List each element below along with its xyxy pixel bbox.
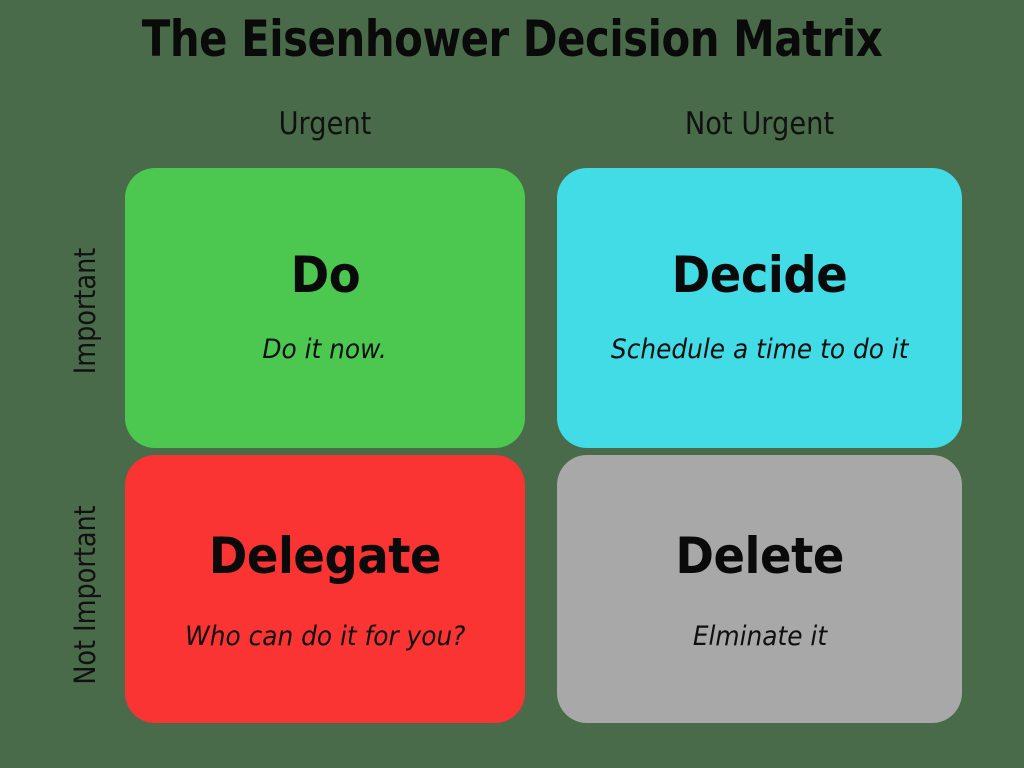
quadrant-decide-title: Decide bbox=[672, 250, 848, 300]
quadrant-delete-subtitle: Elminate it bbox=[692, 621, 826, 653]
quadrant-do-subtitle: Do it now. bbox=[263, 334, 387, 366]
quadrant-do[interactable]: Do Do it now. bbox=[125, 168, 525, 448]
quadrant-delegate-subtitle: Who can do it for you? bbox=[185, 621, 465, 653]
quadrant-do-title: Do bbox=[290, 250, 360, 300]
quadrant-delegate-title: Delegate bbox=[209, 531, 441, 581]
row-label-not-important: Not Important bbox=[68, 463, 102, 727]
column-header-not-urgent: Not Urgent bbox=[581, 106, 937, 143]
quadrant-decide[interactable]: Decide Schedule a time to do it bbox=[557, 168, 962, 448]
eisenhower-matrix: The Eisenhower Decision Matrix Urgent No… bbox=[0, 0, 1024, 768]
page-title: The Eisenhower Decision Matrix bbox=[36, 12, 988, 67]
row-label-important: Important bbox=[68, 179, 102, 443]
quadrant-delete-title: Delete bbox=[675, 531, 844, 581]
column-header-urgent: Urgent bbox=[149, 106, 501, 143]
quadrant-decide-subtitle: Schedule a time to do it bbox=[611, 334, 909, 366]
quadrant-delete[interactable]: Delete Elminate it bbox=[557, 455, 962, 723]
quadrant-delegate[interactable]: Delegate Who can do it for you? bbox=[125, 455, 525, 723]
